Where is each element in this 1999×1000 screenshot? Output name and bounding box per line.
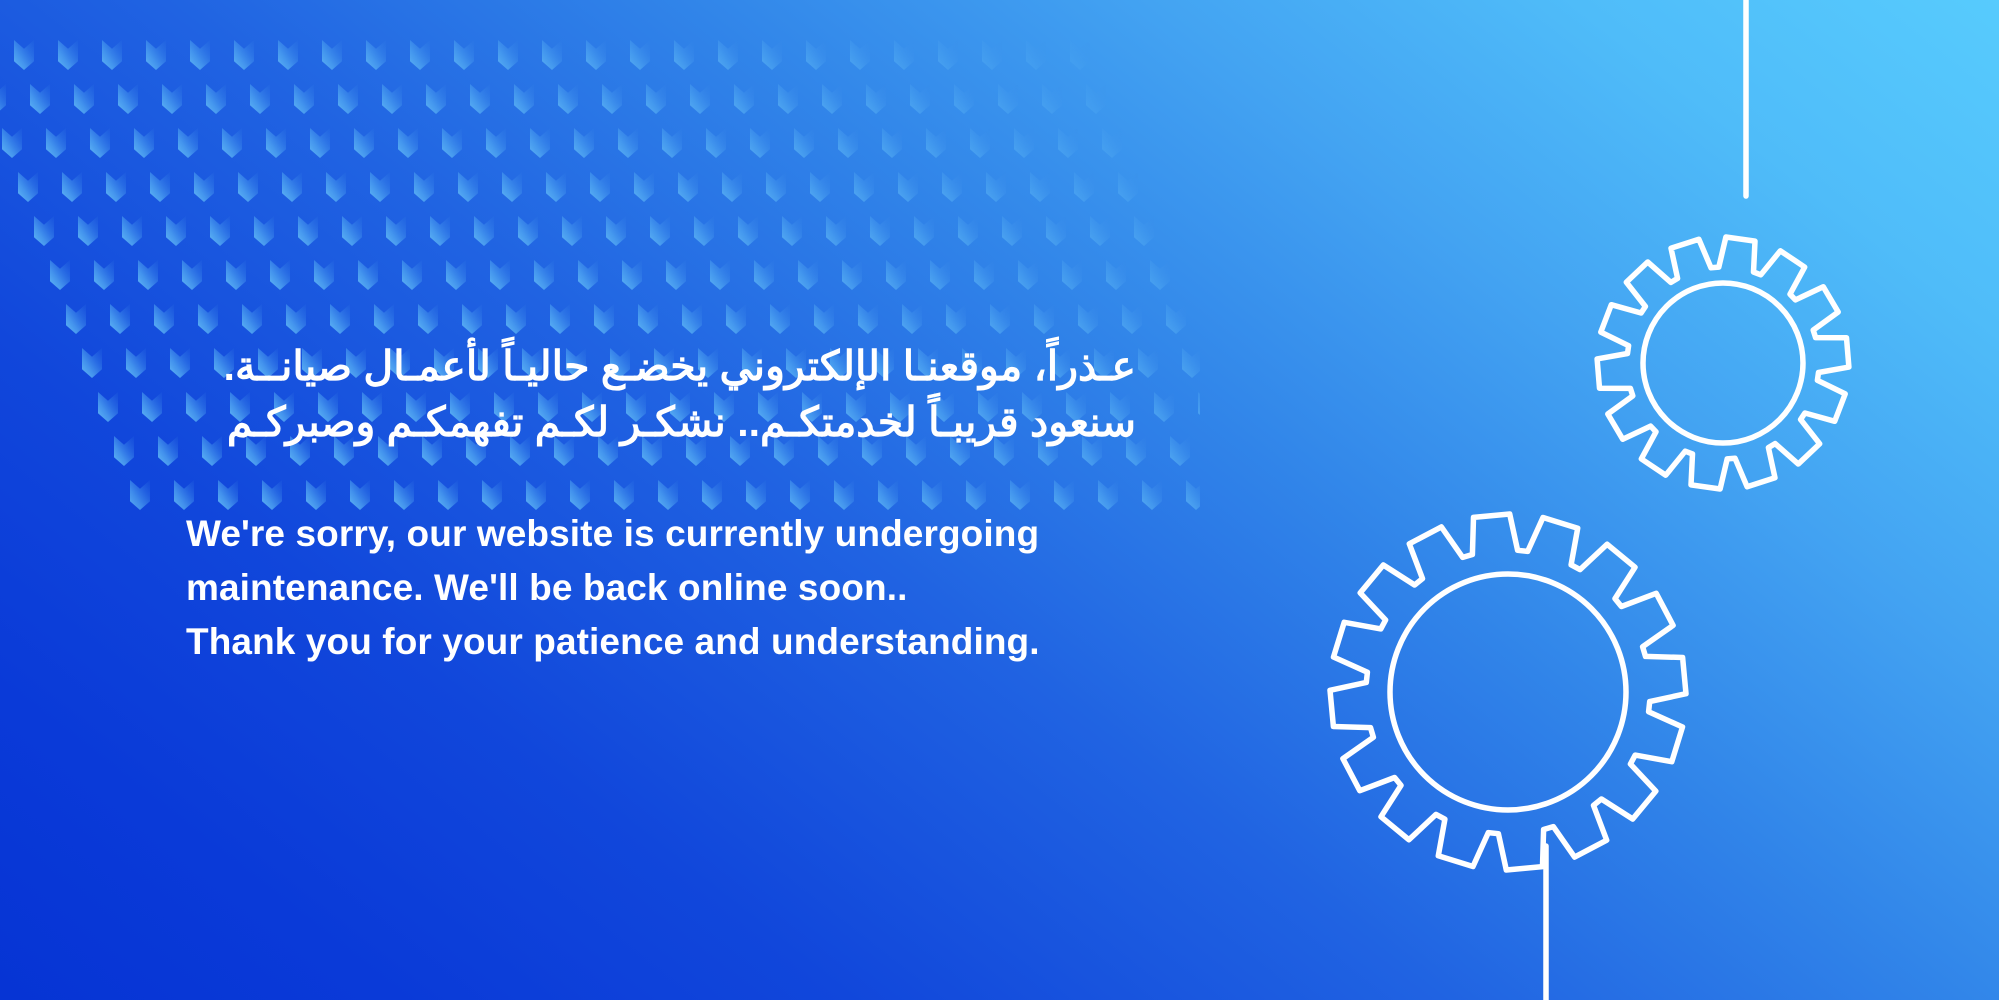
large-gear-icon <box>1330 514 1686 870</box>
arabic-line-2: سنعود قريبـاً لخدمتكـم.. نشكـر لكـم تفهم… <box>186 394 1136 450</box>
english-line-3: Thank you for your patience and understa… <box>186 615 1186 669</box>
english-line-2: maintenance. We'll be back online soon.. <box>186 561 1186 615</box>
maintenance-page: عـذراً، موقعنـا الإلكتروني يخضـع حاليـاً… <box>0 0 1999 1000</box>
large-gear-hub <box>1390 574 1626 810</box>
gear-illustration <box>1099 0 1999 1000</box>
english-line-1: We're sorry, our website is currently un… <box>186 507 1186 561</box>
arabic-message: عـذراً، موقعنـا الإلكتروني يخضـع حاليـاً… <box>186 338 1136 450</box>
message-block: عـذراً، موقعنـا الإلكتروني يخضـع حاليـاً… <box>186 338 1186 668</box>
small-gear-icon <box>1597 237 1849 489</box>
arabic-line-1: عـذراً، موقعنـا الإلكتروني يخضـع حاليـاً… <box>186 338 1136 394</box>
small-gear-hub <box>1643 283 1803 443</box>
english-message: We're sorry, our website is currently un… <box>186 450 1186 668</box>
